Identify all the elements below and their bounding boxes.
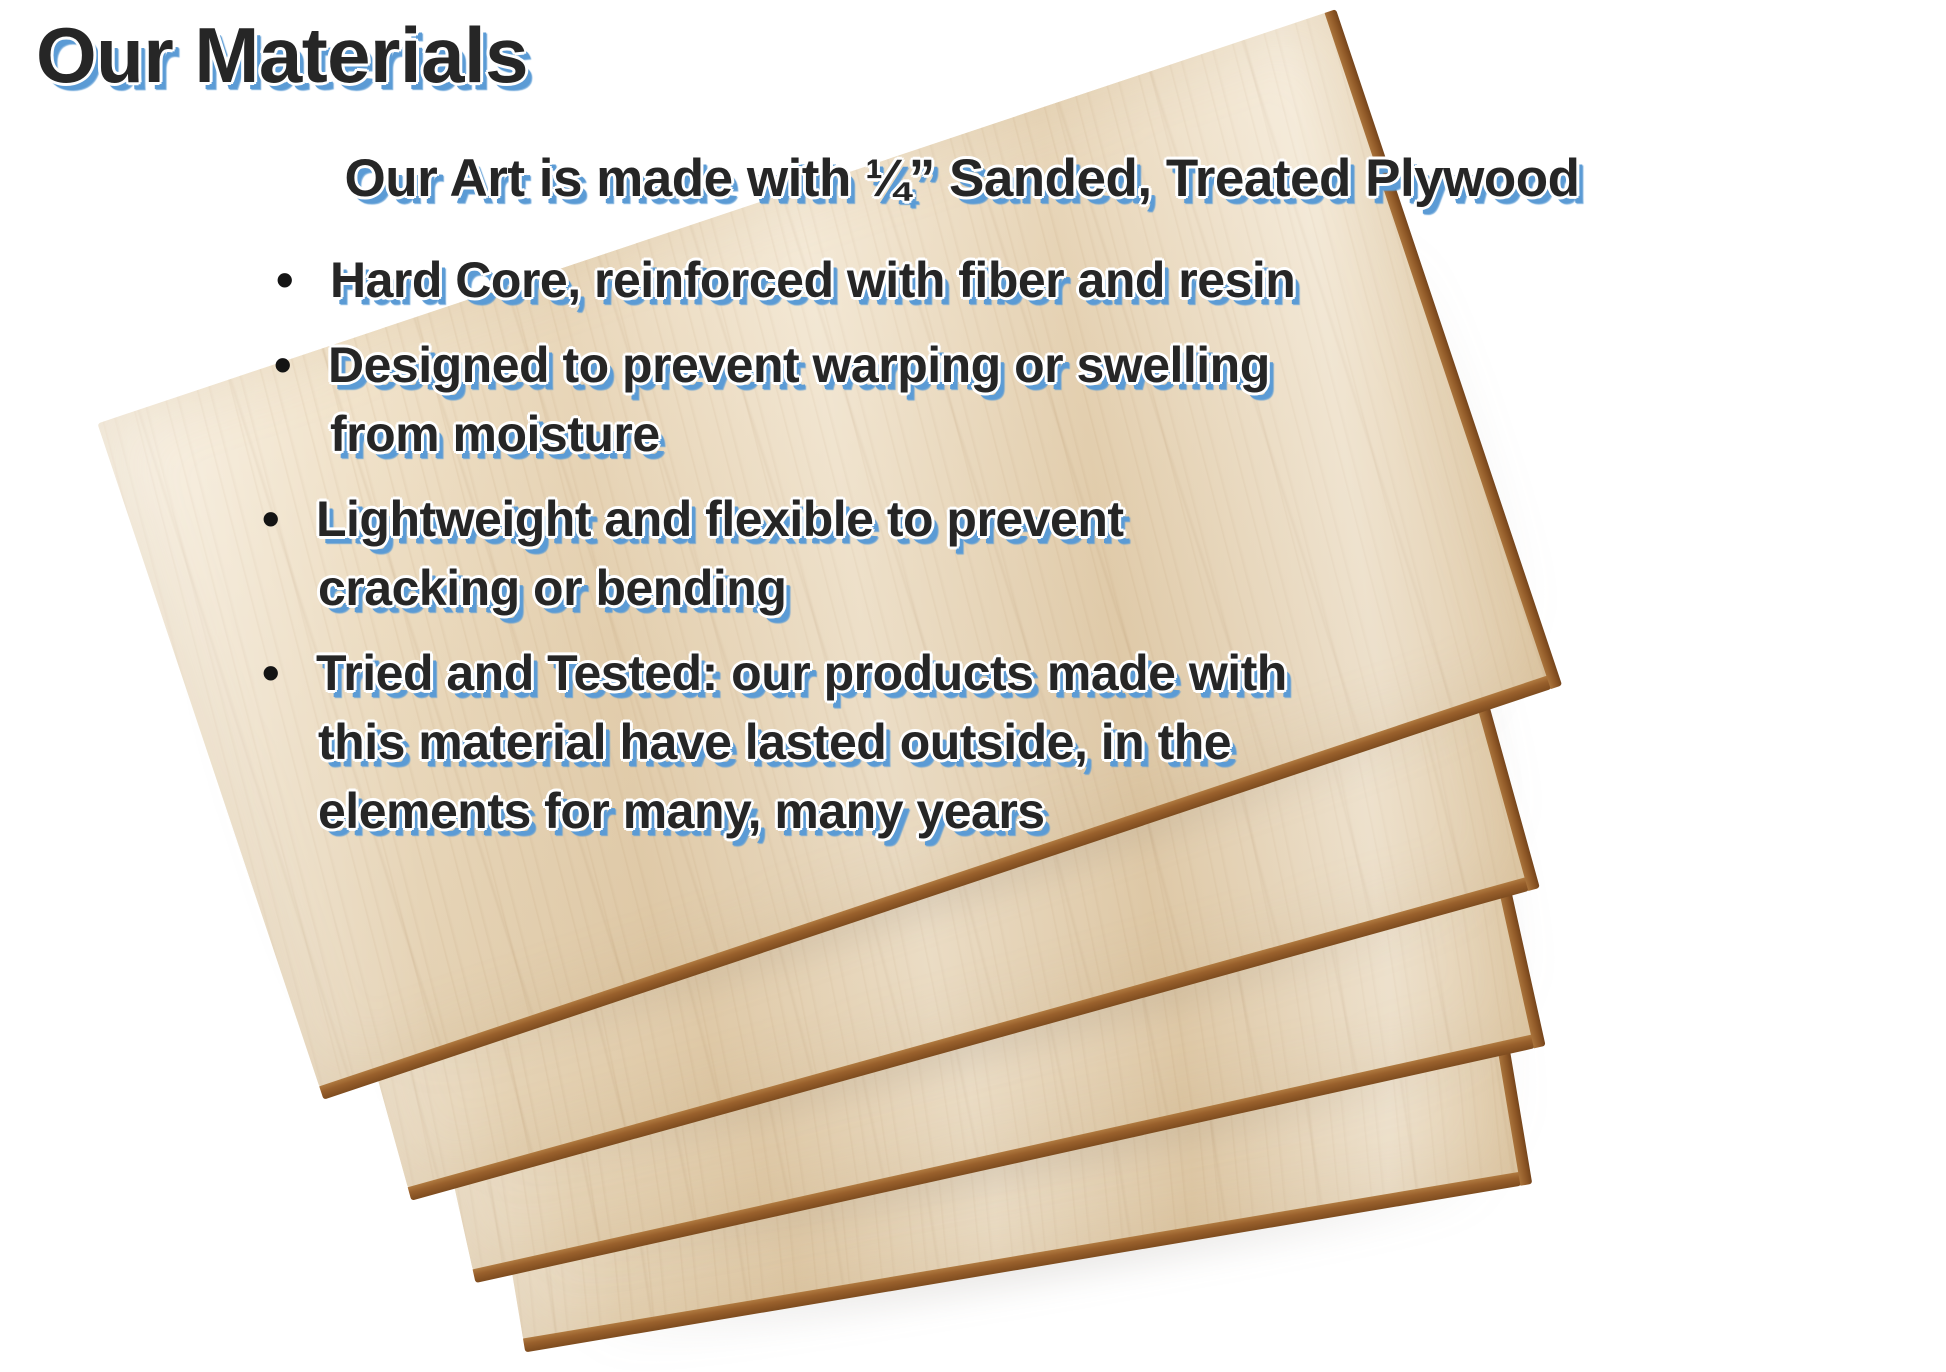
- slide-subtitle: Our Art is made with ¼” Sanded, Treated …: [0, 152, 1946, 205]
- bullet-dot-icon: •: [276, 246, 330, 315]
- bullet-text: Hard Core, reinforced with fiber and res…: [330, 252, 1295, 308]
- bullet-continuation-line: elements for many, many years: [262, 777, 1662, 846]
- materials-bullet-list: •Hard Core, reinforced with fiber and re…: [262, 246, 1662, 862]
- bullet-dot-icon: •: [262, 485, 316, 554]
- bullet-dot-icon: •: [274, 331, 328, 400]
- bullet-continuation-line: from moisture: [274, 400, 1662, 469]
- bullet-first-line: •Designed to prevent warping or swelling: [274, 331, 1662, 400]
- bullet-first-line: •Hard Core, reinforced with fiber and re…: [276, 246, 1662, 315]
- slide-canvas: Our Materials Our Art is made with ¼” Sa…: [0, 0, 1946, 1372]
- bullet-text: Lightweight and flexible to prevent: [316, 491, 1124, 547]
- bullet-continuation-line: cracking or bending: [262, 554, 1662, 623]
- bullet-text: Tried and Tested: our products made with: [316, 645, 1287, 701]
- bullet-text: Designed to prevent warping or swelling: [328, 337, 1270, 393]
- slide-text-layer: Our Materials Our Art is made with ¼” Sa…: [0, 0, 1946, 1372]
- list-item: •Hard Core, reinforced with fiber and re…: [276, 246, 1662, 315]
- bullet-dot-icon: •: [262, 639, 316, 708]
- list-item: •Lightweight and flexible to preventcrac…: [262, 485, 1662, 623]
- list-item: •Designed to prevent warping or swelling…: [274, 331, 1662, 469]
- bullet-continuation-line: this material have lasted outside, in th…: [262, 708, 1662, 777]
- bullet-first-line: •Lightweight and flexible to prevent: [262, 485, 1662, 554]
- page-title: Our Materials: [36, 16, 528, 94]
- list-item: •Tried and Tested: our products made wit…: [262, 639, 1662, 846]
- bullet-first-line: •Tried and Tested: our products made wit…: [262, 639, 1662, 708]
